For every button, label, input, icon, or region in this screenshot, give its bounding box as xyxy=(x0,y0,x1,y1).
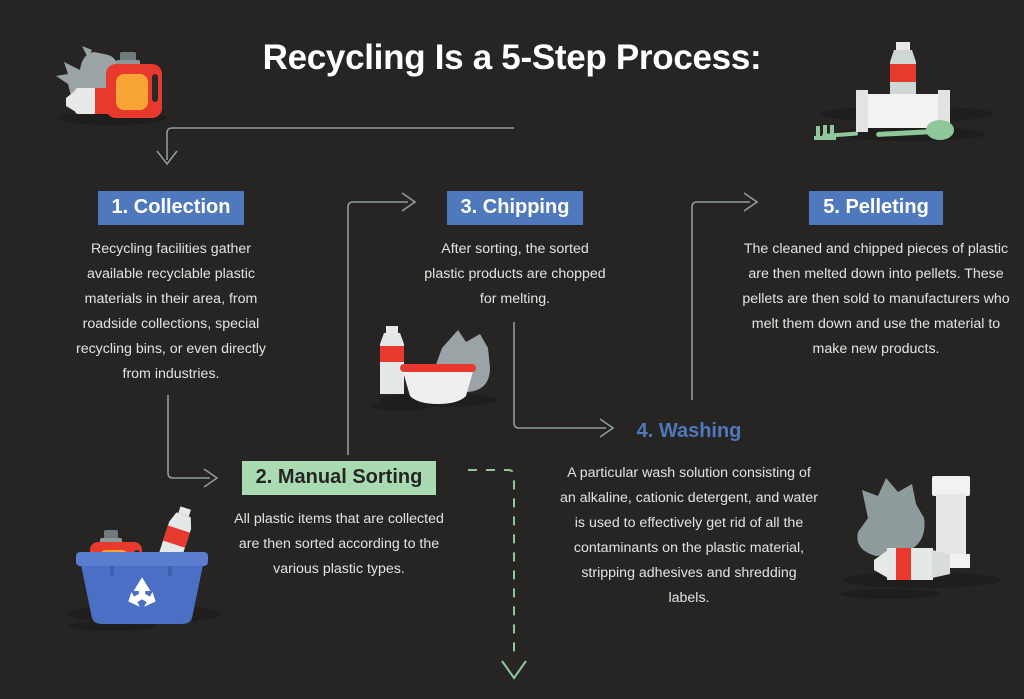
step-1-body: Recycling facilities gather available re… xyxy=(66,237,276,387)
step-5-pelleting[interactable]: 5. Pelleting The cleaned and chipped pie… xyxy=(742,191,1010,362)
step-1-collection[interactable]: 1. Collection Recycling facilities gathe… xyxy=(66,191,276,387)
step-1-label[interactable]: 1. Collection xyxy=(98,191,245,225)
step-4-label[interactable]: 4. Washing xyxy=(637,415,742,449)
step-5-badge-wrap: 5. Pelleting xyxy=(742,191,1010,225)
step-3-label[interactable]: 3. Chipping xyxy=(447,191,584,225)
step-5-label[interactable]: 5. Pelleting xyxy=(809,191,943,225)
connector-step1-to-step2 xyxy=(168,395,217,487)
step-4-badge-wrap: 4. Washing xyxy=(560,415,818,449)
bottle-bowl-crushed-plastic-illustration xyxy=(362,312,512,412)
blue-recycling-bin-illustration xyxy=(52,492,232,632)
step-1-badge-wrap: 1. Collection xyxy=(66,191,276,225)
step-2-badge-wrap: 2. Manual Sorting xyxy=(232,461,446,495)
step-2-manual-sorting[interactable]: 2. Manual Sorting All plastic items that… xyxy=(232,461,446,582)
step-2-label[interactable]: 2. Manual Sorting xyxy=(242,461,437,495)
step-2-body: All plastic items that are collected are… xyxy=(232,507,446,582)
connector-title-to-step1 xyxy=(157,128,514,164)
connector-step2-dashed-down xyxy=(468,470,526,678)
step-4-washing[interactable]: 4. Washing A particular wash solution co… xyxy=(560,415,818,611)
step-5-body: The cleaned and chipped pieces of plasti… xyxy=(742,237,1010,362)
step-3-body: After sorting, the sorted plastic produc… xyxy=(420,237,610,312)
step-4-body: A particular wash solution consisting of… xyxy=(560,461,818,611)
step-3-badge-wrap: 3. Chipping xyxy=(420,191,610,225)
infographic-canvas: Recycling Is a 5-Step Process: xyxy=(0,0,1024,699)
plastic-bottle-pipe-cutlery-illustration xyxy=(812,24,1002,146)
step-3-chipping[interactable]: 3. Chipping After sorting, the sorted pl… xyxy=(420,191,610,312)
plastic-jug-and-bottles-illustration xyxy=(42,22,182,132)
crushed-plastic-and-containers-illustration xyxy=(832,462,1012,602)
